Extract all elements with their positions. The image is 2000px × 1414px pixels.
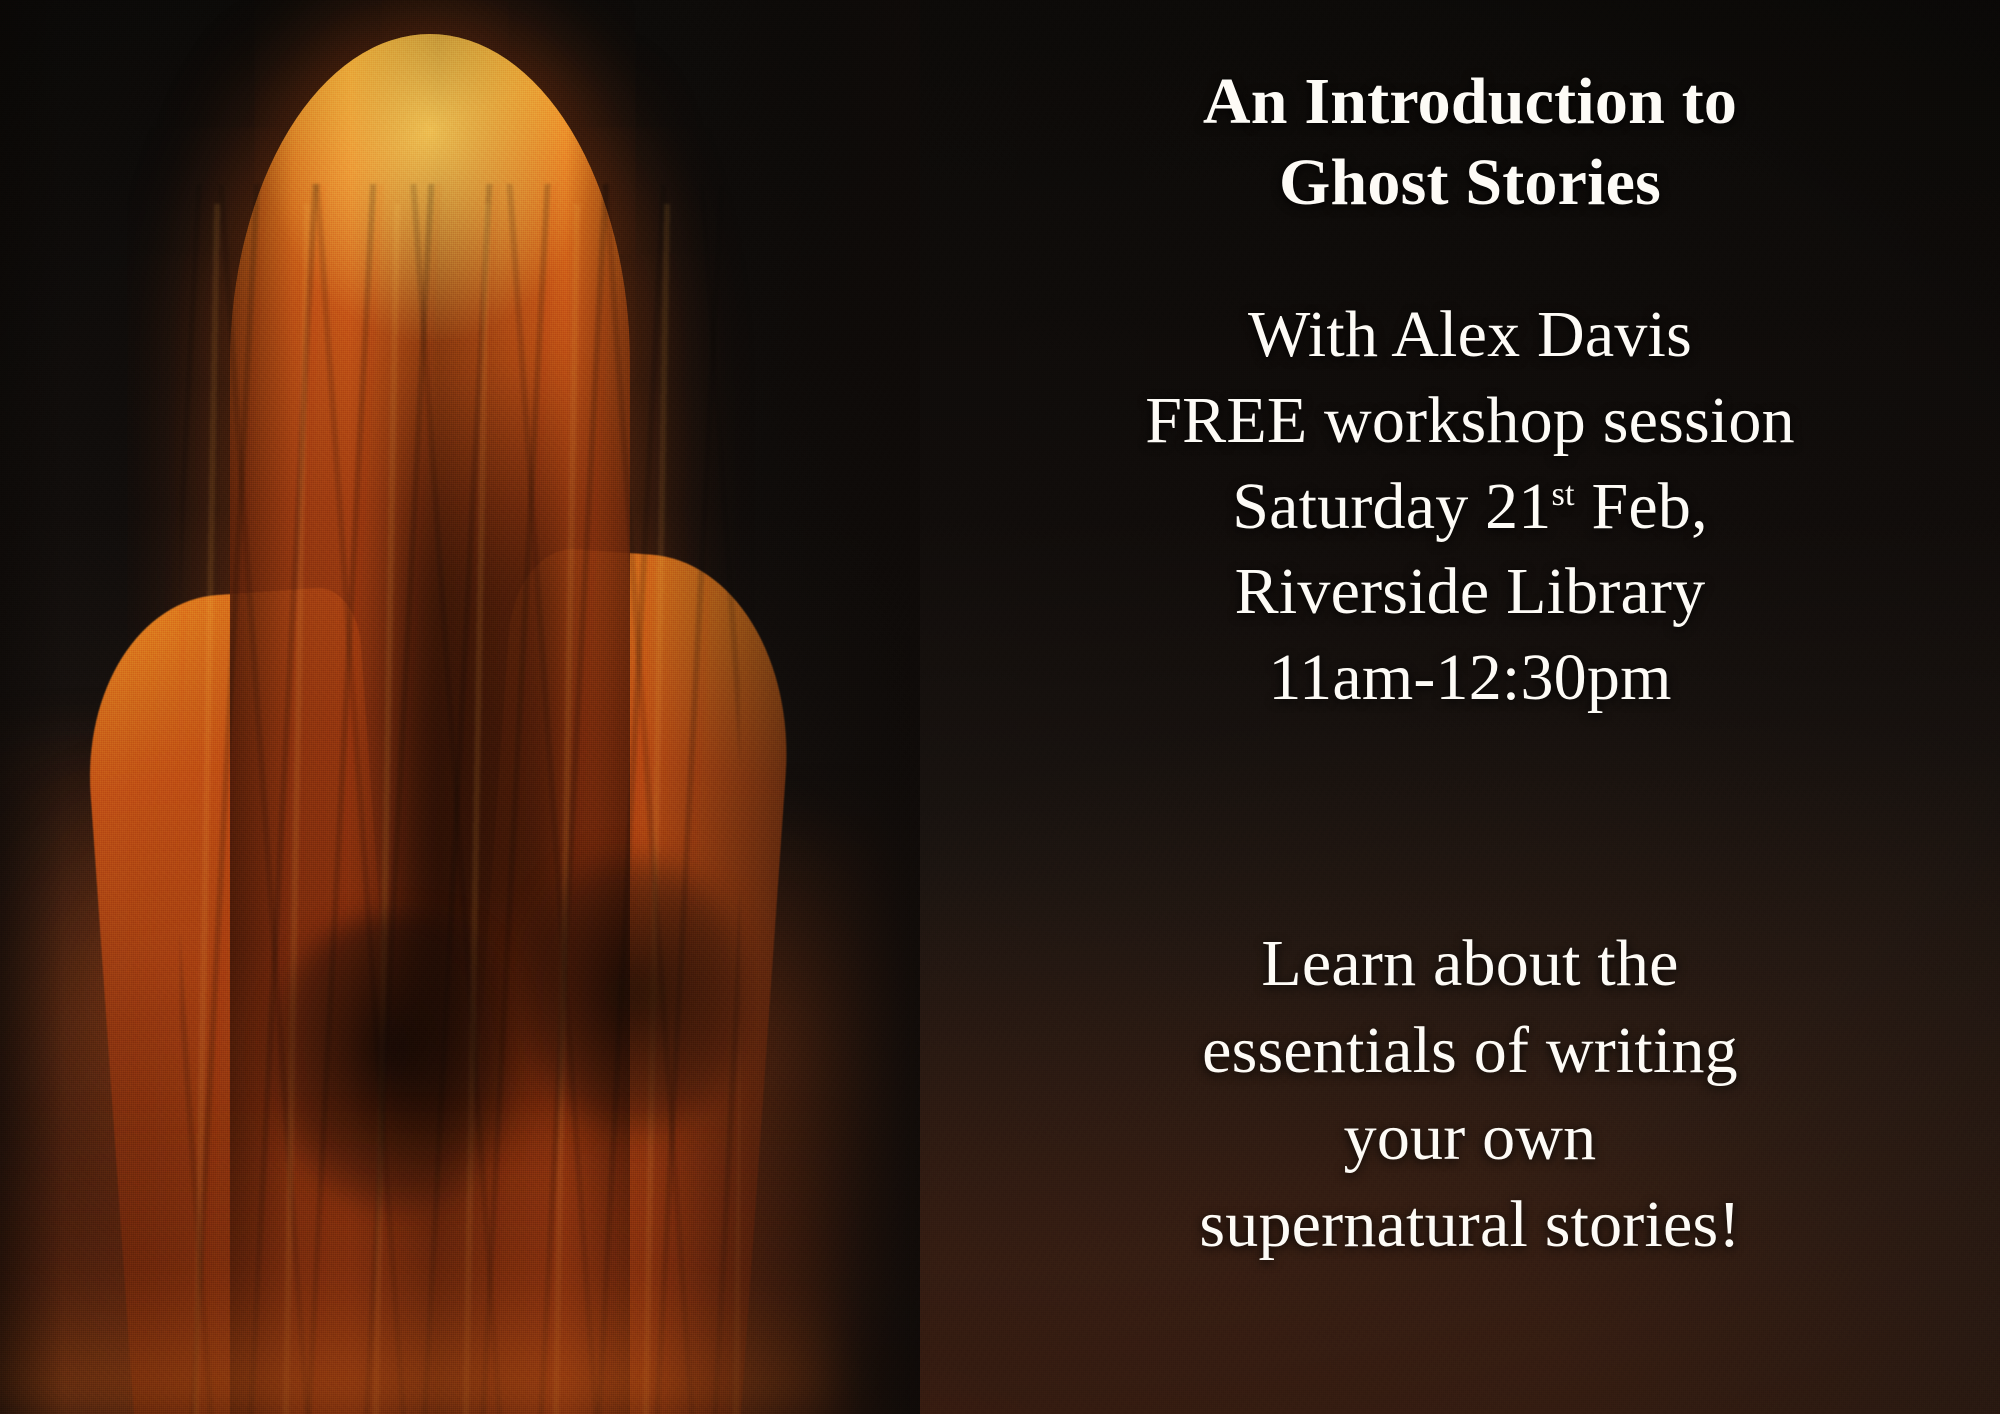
date-line: Saturday 21st Feb, (1060, 464, 1880, 550)
time-line: 11am-12:30pm (1060, 635, 1880, 721)
description-line-3: your own (1060, 1094, 1880, 1181)
event-poster: An Introduction to Ghost Stories With Al… (0, 0, 2000, 1414)
figure-hem-glow (0, 1114, 840, 1414)
event-description: Learn about the essentials of writing yo… (1060, 920, 1880, 1268)
poster-text-column: An Introduction to Ghost Stories With Al… (1060, 0, 1880, 1414)
presenter-line: With Alex Davis (1060, 292, 1880, 378)
date-month: Feb, (1575, 470, 1708, 543)
title-line-1: An Introduction to (1060, 62, 1880, 143)
poster-title: An Introduction to Ghost Stories (1060, 62, 1880, 223)
date-prefix: Saturday 21 (1232, 470, 1551, 543)
title-line-2: Ghost Stories (1060, 143, 1880, 224)
venue-line: Riverside Library (1060, 549, 1880, 635)
ghost-figure-image (0, 0, 920, 1414)
date-ordinal-suffix: st (1552, 475, 1575, 513)
description-line-4: supernatural stories! (1060, 1181, 1880, 1268)
event-details: With Alex Davis FREE workshop session Sa… (1060, 292, 1880, 721)
description-line-2: essentials of writing (1060, 1007, 1880, 1094)
session-type-line: FREE workshop session (1060, 378, 1880, 464)
description-line-1: Learn about the (1060, 920, 1880, 1007)
